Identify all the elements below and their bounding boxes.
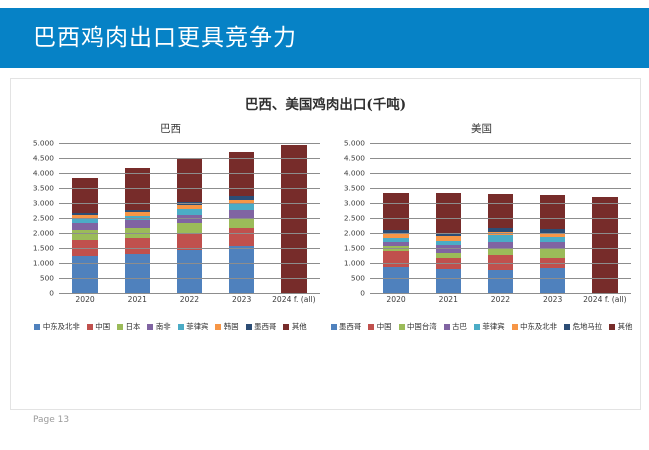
slide-header-bar: 巴西鸡肉出口更具竞争力 [0,8,649,68]
gridline [370,263,631,264]
bar-segment[interactable] [383,193,408,231]
legend-swatch-icon [368,324,374,330]
chart-content-frame: 巴西、美国鸡肉出口(千吨) 巴西 05001.0001.5002.0002.50… [10,78,641,410]
bar-segment[interactable] [229,210,254,218]
y-axis-brazil: 05001.0001.5002.0002.5003.0003.5004.0004… [15,143,57,293]
x-tick-label: 2023 [529,295,576,304]
legend-item[interactable]: 菲律宾 [474,321,505,332]
gridline [59,203,320,204]
legend-label: 危地马拉 [573,321,603,332]
gridline [59,158,320,159]
gridline [370,233,631,234]
legend-label: 南非 [156,321,171,332]
legend-item[interactable]: 墨西哥 [246,321,277,332]
chart-panel-brazil: 巴西 05001.0001.5002.0002.5003.0003.5004.0… [15,121,326,399]
bar-segment[interactable] [229,246,254,293]
bar-segment[interactable] [540,195,565,229]
legend-item[interactable]: 中国 [87,321,110,332]
stacked-bar[interactable] [125,168,150,293]
stacked-bar[interactable] [177,159,202,293]
x-axis-usa: 20202021202220232024 f. (all) [370,295,631,313]
legend-swatch-icon [331,324,337,330]
x-tick-label: 2022 [477,295,524,304]
x-tick-label: 2024 f. (all) [581,295,628,304]
legend-label: 其他 [292,321,307,332]
y-tick-label: 3.000 [344,199,365,208]
bar-segment[interactable] [383,251,408,266]
bar-segment[interactable] [72,230,97,240]
y-tick-label: 2.000 [33,229,54,238]
gridline [59,173,320,174]
plot-area-brazil: 05001.0001.5002.0002.5003.0003.5004.0004… [15,143,326,318]
x-tick-label: 2022 [166,295,213,304]
bar-segment[interactable] [436,193,461,233]
legend-swatch-icon [399,324,405,330]
legend-swatch-icon [117,324,123,330]
y-tick-label: 0 [360,289,365,298]
x-tick-label: 2020 [62,295,109,304]
legend-label: 中国 [377,321,392,332]
y-tick-label: 5.000 [344,139,365,148]
gridline [59,248,320,249]
legend-swatch-icon [564,324,570,330]
chart-supertitle: 巴西、美国鸡肉出口(千吨) [11,93,640,113]
legend-swatch-icon [512,324,518,330]
legend-swatch-icon [474,324,480,330]
legend-item[interactable]: 中东及北非 [512,321,557,332]
legend-item[interactable]: 南非 [147,321,170,332]
gridline [370,158,631,159]
legend-label: 墨西哥 [339,321,361,332]
y-tick-label: 4.000 [344,169,365,178]
y-tick-label: 1.000 [344,259,365,268]
x-tick-label: 2021 [114,295,161,304]
legend-item[interactable]: 中东及北非 [34,321,79,332]
legend-label: 菲律宾 [186,321,208,332]
bar-segment[interactable] [177,250,202,293]
y-tick-label: 0 [49,289,54,298]
bar-segment[interactable] [488,235,513,242]
y-tick-label: 500 [351,274,365,283]
gridline [59,188,320,189]
y-tick-label: 2.500 [33,214,54,223]
legend-brazil: 中东及北非中国日本南非菲律宾韩国墨西哥其他 [17,321,324,332]
page-number: Page 13 [33,415,69,425]
legend-item[interactable]: 其他 [283,321,306,332]
gridline [59,218,320,219]
plot-area-usa: 05001.0001.5002.0002.5003.0003.5004.0004… [326,143,637,318]
y-tick-label: 4.000 [33,169,54,178]
bar-segment[interactable] [540,249,565,258]
panel-title-usa: 美国 [326,121,637,136]
chart-panel-usa: 美国 05001.0001.5002.0002.5003.0003.5004.0… [326,121,637,399]
legend-item[interactable]: 菲律宾 [178,321,209,332]
y-tick-label: 2.500 [344,214,365,223]
legend-swatch-icon [246,324,252,330]
y-tick-label: 1.500 [344,244,365,253]
legend-label: 中国 [95,321,110,332]
legend-item[interactable]: 日本 [117,321,140,332]
x-tick-label: 2021 [425,295,472,304]
slide: 巴西鸡肉出口更具竞争力 巴西、美国鸡肉出口(千吨) 巴西 05001.0001.… [0,0,649,450]
bar-segment[interactable] [125,254,150,293]
bar-segment[interactable] [488,194,513,228]
legend-swatch-icon [609,324,615,330]
x-axis-brazil: 20202021202220232024 f. (all) [59,295,320,313]
x-tick-label: 2024 f. (all) [270,295,317,304]
legend-label: 其他 [618,321,633,332]
gridline [370,143,631,144]
y-tick-label: 2.000 [344,229,365,238]
legend-item[interactable]: 危地马拉 [564,321,602,332]
legend-item[interactable]: 中国 [368,321,391,332]
legend-swatch-icon [178,324,184,330]
bar-segment[interactable] [72,223,97,230]
panel-title-brazil: 巴西 [15,121,326,136]
y-tick-label: 1.000 [33,259,54,268]
legend-swatch-icon [444,324,450,330]
legend-label: 古巴 [452,321,467,332]
y-axis-usa: 05001.0001.5002.0002.5003.0003.5004.0004… [326,143,368,293]
legend-item[interactable]: 中国台湾 [399,321,437,332]
gridline [370,248,631,249]
gridline [370,188,631,189]
y-tick-label: 5.000 [33,139,54,148]
bar-segment[interactable] [72,178,97,213]
stacked-bar[interactable] [72,178,97,293]
bar-segment[interactable] [125,238,150,254]
y-tick-label: 3.000 [33,199,54,208]
gridline [59,293,320,294]
gridline [59,233,320,234]
legend-label: 中国台湾 [407,321,437,332]
y-tick-label: 3.500 [344,184,365,193]
bar-segment[interactable] [229,228,254,246]
gridline [370,203,631,204]
legend-item[interactable]: 韩国 [215,321,238,332]
bar-segment[interactable] [72,256,97,293]
legend-item[interactable]: 古巴 [444,321,467,332]
legend-label: 墨西哥 [254,321,276,332]
legend-swatch-icon [34,324,40,330]
legend-swatch-icon [87,324,93,330]
bar-segment[interactable] [229,218,254,229]
legend-item[interactable]: 其他 [609,321,632,332]
bar-segment[interactable] [540,268,565,293]
x-tick-label: 2020 [373,295,420,304]
bar-segment[interactable] [383,267,408,293]
x-tick-label: 2023 [218,295,265,304]
legend-swatch-icon [283,324,289,330]
bar-segment[interactable] [177,223,202,234]
legend-usa: 墨西哥中国中国台湾古巴菲律宾中东及北非危地马拉其他 [328,321,635,332]
gridline [370,278,631,279]
bar-segment[interactable] [488,270,513,293]
gridlines-usa [370,143,631,293]
y-tick-label: 1.500 [33,244,54,253]
bar-segment[interactable] [436,269,461,293]
legend-item[interactable]: 墨西哥 [331,321,362,332]
legend-label: 韩国 [224,321,239,332]
y-tick-label: 3.500 [33,184,54,193]
gridline [59,278,320,279]
legend-swatch-icon [147,324,153,330]
gridline [59,143,320,144]
y-tick-label: 4.500 [33,154,54,163]
legend-label: 菲律宾 [482,321,504,332]
gridlines-brazil [59,143,320,293]
gridline [370,218,631,219]
legend-label: 日本 [126,321,141,332]
gridline [370,173,631,174]
bar-segment[interactable] [177,159,202,203]
page-title: 巴西鸡肉出口更具竞争力 [33,23,297,53]
y-tick-label: 4.500 [344,154,365,163]
bar-segment[interactable] [125,220,150,228]
legend-swatch-icon [215,324,221,330]
legend-label: 中东及北非 [43,321,80,332]
y-tick-label: 500 [40,274,54,283]
gridline [370,293,631,294]
gridline [59,263,320,264]
legend-label: 中东及北非 [520,321,557,332]
